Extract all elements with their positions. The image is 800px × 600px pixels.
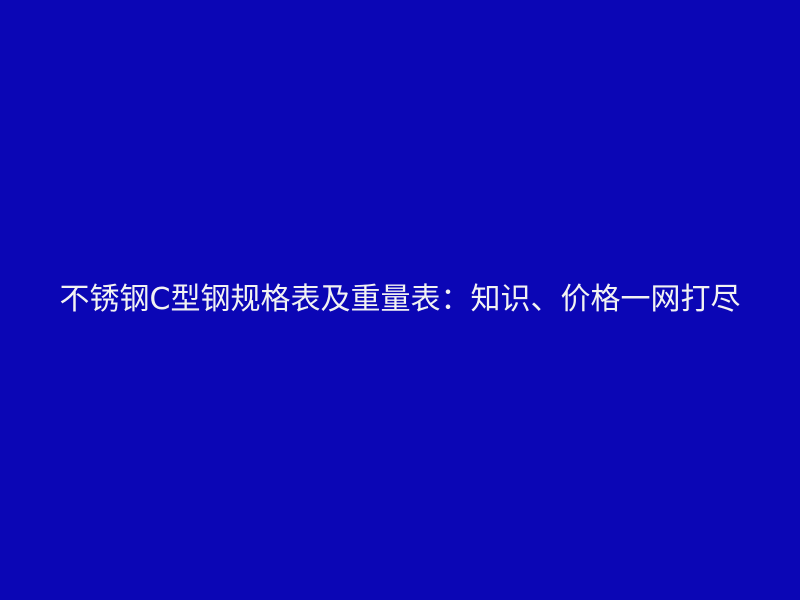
title-block: 不锈钢C型钢规格表及重量表：知识、价格一网打尽 xyxy=(55,273,745,327)
title-card: 不锈钢C型钢规格表及重量表：知识、价格一网打尽 xyxy=(0,0,800,600)
page-title: 不锈钢C型钢规格表及重量表：知识、价格一网打尽 xyxy=(55,273,745,327)
